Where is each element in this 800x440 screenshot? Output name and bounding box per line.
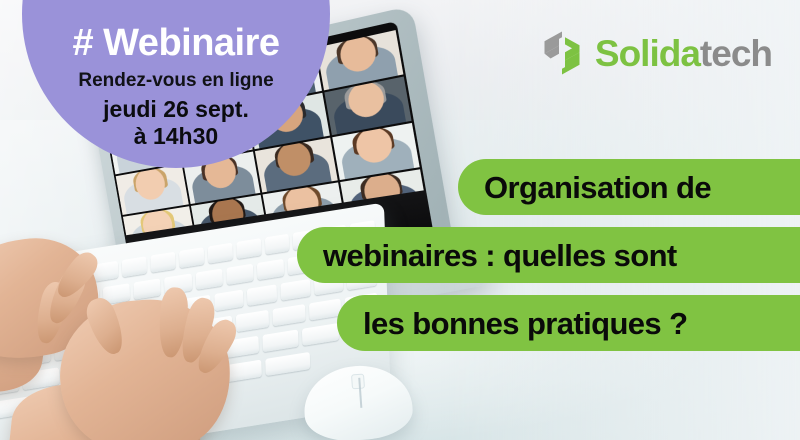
badge-date: jeudi 26 sept. <box>103 96 249 123</box>
solidatech-logo[interactable]: Solidatech <box>541 30 772 76</box>
headline-bar-3: les bonnes pratiques ? <box>337 295 800 351</box>
solidatech-hexagon-s-icon <box>541 30 583 76</box>
webinar-promo-poster: # Webinaire Rendez-vous en ligne jeudi 2… <box>0 0 800 440</box>
badge-title: # Webinaire <box>72 24 279 64</box>
headline-line-2: webinaires : quelles sont <box>323 240 677 271</box>
badge-subtitle: Rendez-vous en ligne <box>78 70 273 92</box>
logo-text-gray: tech <box>700 33 772 74</box>
headline-bar-2: webinaires : quelles sont <box>297 227 800 283</box>
headline-line-1: Organisation de <box>484 172 711 203</box>
headline-line-3: les bonnes pratiques ? <box>363 308 687 339</box>
headline-bar-1: Organisation de <box>458 159 800 215</box>
logo-text-green: Solida <box>595 33 700 74</box>
solidatech-wordmark: Solidatech <box>595 35 772 72</box>
badge-time: à 14h30 <box>134 123 218 150</box>
